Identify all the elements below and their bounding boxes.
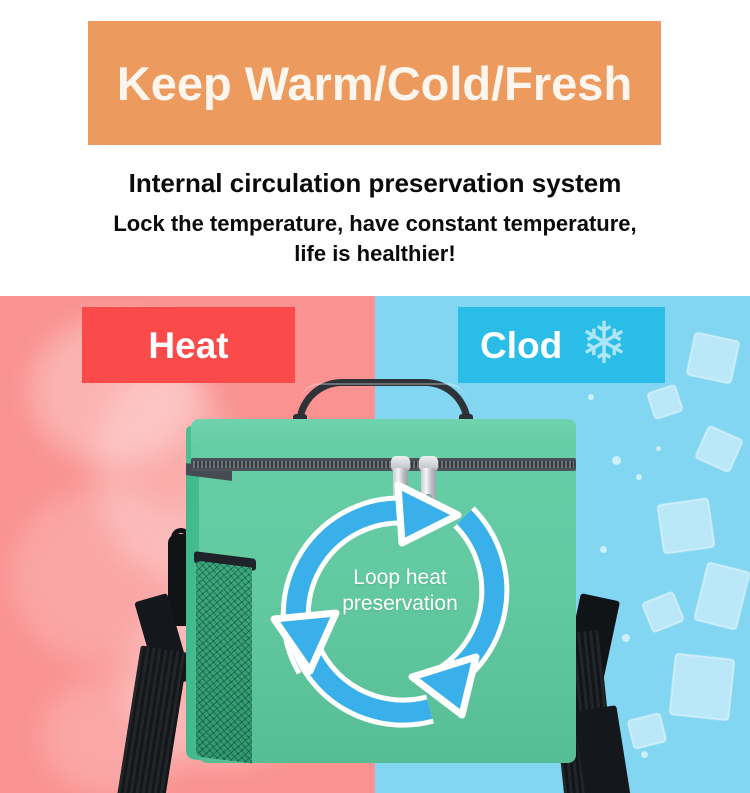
- product-marketing-image: Keep Warm/Cold/Fresh Internal circulatio…: [0, 0, 750, 793]
- mesh-side-pocket: [196, 561, 252, 764]
- header-section: Keep Warm/Cold/Fresh Internal circulatio…: [0, 0, 750, 296]
- sub-copy-line-2: life is healthier!: [0, 239, 750, 269]
- bag-handle-highlight: [300, 383, 467, 403]
- loop-caption-line-1: Loop heat: [353, 566, 446, 589]
- subheadline: Internal circulation preservation system: [0, 167, 750, 200]
- zipper-teeth: [193, 461, 574, 468]
- cooler-bag: UN: [0, 296, 750, 793]
- banner-title: Keep Warm/Cold/Fresh: [117, 60, 632, 107]
- product-photo-section: Heat Clod ❄: [0, 296, 750, 793]
- sub-copy-line-1: Lock the temperature, have constant temp…: [113, 211, 636, 236]
- sub-copy: Lock the temperature, have constant temp…: [0, 209, 750, 268]
- headline-banner: Keep Warm/Cold/Fresh: [88, 21, 661, 145]
- loop-caption: Loop heat preservation: [300, 565, 500, 618]
- shoulder-strap-left: [116, 645, 188, 793]
- loop-caption-line-2: preservation: [300, 591, 500, 617]
